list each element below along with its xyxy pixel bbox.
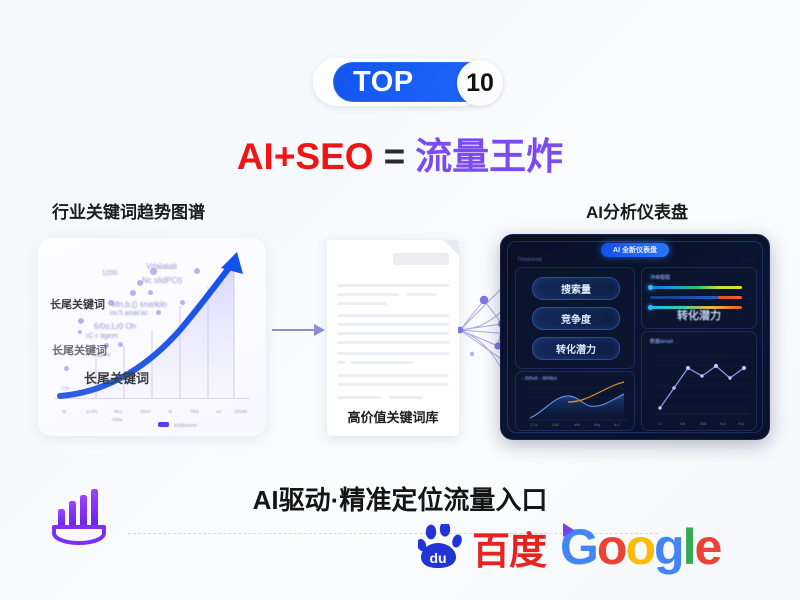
scatter-dot [180, 300, 185, 305]
x-axis-tick: 1T14 [530, 423, 537, 427]
keyword-label: 长尾关键词 [52, 342, 107, 358]
x-axis-tick: t248t [552, 423, 559, 427]
doc-header-block [393, 253, 449, 265]
x-axis-tick: t0t,L [114, 409, 123, 414]
scatter-dot [150, 268, 157, 275]
line-chart-title: 数据detail [650, 338, 673, 345]
meter-bar-alert [718, 296, 742, 299]
top-rank-badge: TOP 10 [313, 58, 486, 106]
blur-word: -75- [60, 386, 71, 392]
x-axis-tick: wt5t [574, 423, 580, 427]
x-axis-tick: 064t [700, 422, 706, 426]
baidu-paw-icon: du [418, 524, 470, 570]
legend-label: trvbbwvnn [174, 423, 197, 429]
scatter-dot [118, 342, 123, 347]
google-letter: l [683, 522, 695, 572]
x-axis-tick: t0,t4 [720, 422, 726, 426]
doc-caption: 高价值关键词库 [327, 407, 459, 426]
slide-canvas: TOP 10 AI+SEO=流量王炸 行业关键词趋势图谱 AI分析仪表盘 [0, 0, 800, 600]
meter-panel-title: 冲命程程 [650, 274, 670, 281]
area-chart-panel: - 0t0v0 - t6f4kn 1T14 [515, 371, 635, 431]
flow-arrow-icon [272, 322, 326, 338]
bar-chart-icon [48, 487, 120, 545]
doc-text-line [337, 383, 449, 386]
scatter-dot [108, 300, 114, 306]
doc-text-line [337, 374, 449, 377]
doc-text-line [389, 396, 423, 399]
scatter-dot [130, 290, 136, 296]
google-letter: o [597, 522, 626, 572]
metric-pill-competition[interactable]: 竞争度 [532, 307, 620, 330]
x-axis-tick: 1t,4% [86, 409, 98, 414]
x-axis-tick: 1t [658, 422, 661, 426]
x-axis-tick: 4t [62, 409, 66, 414]
section-label-dashboard: AI分析仪表盘 [586, 198, 688, 223]
x-axis-tick: 4t [168, 409, 172, 414]
blur-word: rC-r dgern [86, 333, 118, 340]
google-letter: g [654, 522, 683, 572]
doc-text-line [337, 314, 449, 317]
area-chart-legend: - 0t0v0 - t6f4kn [522, 376, 557, 382]
dashboard-menu-icon[interactable]: ··· [743, 257, 755, 263]
scatter-dot [194, 268, 200, 274]
play-triangle-icon [563, 523, 574, 537]
baidu-du-text: du [429, 550, 446, 566]
meter-overlay-label: 转化潜力 [642, 307, 756, 323]
meter-bar [650, 286, 742, 289]
top-rank-label: TOP [353, 68, 414, 97]
doc-bullet [337, 361, 345, 364]
x-axis-tick: n4 [216, 409, 221, 414]
x-axis-note: - t20w [110, 417, 122, 422]
meter-bar [650, 296, 724, 299]
blur-word: ov,5 anaii'ac [110, 310, 148, 317]
x-axis-tick: t9,t4 [738, 422, 744, 426]
x-axis-tick: t24t [680, 422, 685, 426]
google-letter: e [694, 522, 720, 572]
scatter-dot [64, 366, 69, 371]
doc-text-line [337, 341, 449, 344]
line-chart-svg [642, 332, 756, 430]
doc-text-line [337, 352, 449, 355]
doc-text-line [337, 284, 449, 287]
title-right: 流量王炸 [415, 136, 563, 177]
dashboard-brand: Thinkmob [517, 257, 542, 263]
blur-word: 1200 [102, 270, 118, 277]
section-label-trend: 行业关键词趋势图谱 [52, 198, 205, 223]
blur-word: 6/0o,Lr0 Oh [94, 322, 136, 331]
x-axis-tick: 7t04 [190, 409, 199, 414]
meter-knob[interactable] [648, 285, 653, 290]
blur-word: Nc slidPCt) [142, 276, 182, 285]
line-chart-panel: 数据detail 1t [641, 331, 757, 431]
title-equals: = [384, 136, 406, 177]
doc-text-line [337, 323, 449, 326]
top-rank-number: 10 [466, 71, 494, 96]
scatter-dot [78, 330, 82, 334]
dashboard-title-badge: AI 全新仪表盘 [601, 243, 669, 257]
metric-pills-panel: 搜索量 竞争度 转化潜力 [515, 267, 635, 369]
baidu-wordmark: 百度 [472, 534, 546, 570]
doc-text-line [337, 302, 387, 305]
doc-text-line [351, 361, 413, 364]
metric-pill-search-volume[interactable]: 搜索量 [532, 277, 620, 300]
gradient-meter-panel: 冲命程程 转化潜力 [641, 267, 757, 329]
x-axis-tick: t1o7 [614, 423, 620, 427]
bottom-headline: AI驱动·精准定位流量入口 [0, 480, 800, 517]
scatter-dot [137, 280, 143, 286]
doc-text-line [337, 293, 399, 296]
blur-word: Mn,b,() snarkiln [112, 300, 167, 309]
legend-swatch [158, 422, 169, 427]
baidu-logo: du 百度 [418, 524, 546, 570]
scatter-dot [156, 310, 161, 315]
x-axis-tick: 1644 [140, 409, 150, 414]
top-rank-number-circle: 10 [457, 60, 503, 106]
trend-chart-card: 1200 Vrlalatati Nc slidPCt) Mn,b,() snar… [38, 238, 266, 436]
ai-dashboard-card: AI 全新仪表盘 Thinkmob ··· 搜索量 竞争度 转化潜力 冲命程程 … [500, 234, 770, 440]
doc-text-line [337, 396, 381, 399]
scatter-dot [148, 290, 153, 295]
google-logo: G o o g l e [560, 522, 720, 572]
page-title: AI+SEO=流量王炸 [0, 126, 800, 180]
title-left: AI+SEO [237, 136, 374, 177]
top-rank-pill: TOP 10 [333, 62, 498, 102]
keyword-label: 长尾关键词 [84, 368, 149, 387]
doc-text-line [337, 332, 449, 335]
doc-text-line [407, 293, 437, 296]
keyword-label: 长尾关键词 [50, 296, 105, 312]
keyword-library-doc: 高价值关键词库 [327, 240, 459, 436]
x-axis-tick: 6t4g [594, 423, 600, 427]
scatter-dot [78, 318, 84, 324]
x-axis-tick: 2024N [234, 409, 247, 414]
metric-pill-conversion[interactable]: 转化潜力 [532, 337, 620, 360]
google-letter: o [625, 522, 654, 572]
